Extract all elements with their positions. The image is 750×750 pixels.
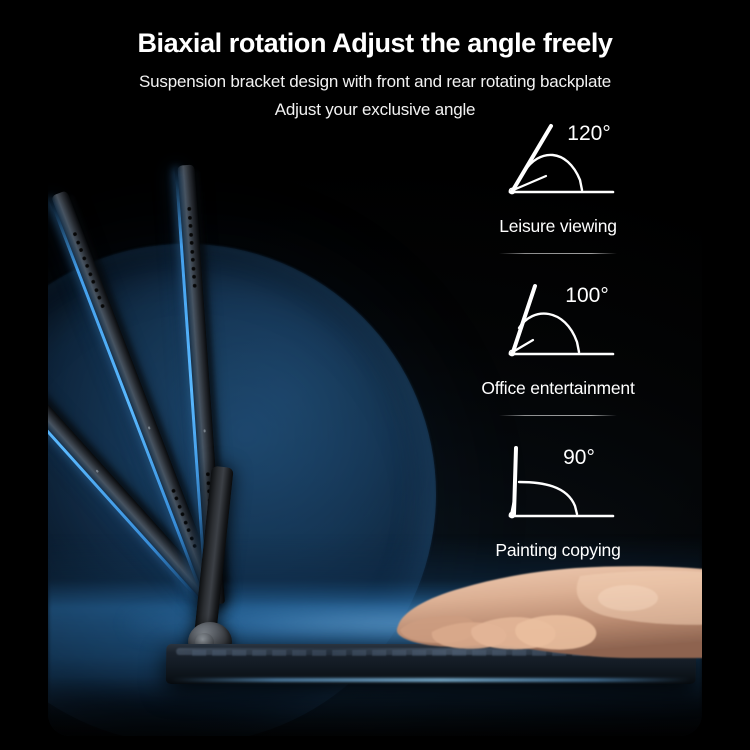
typing-hand [384,554,702,674]
keyboard-front-glow [172,678,690,682]
tablet-angle-120-icon: 120° [452,110,664,202]
angle-preset-120[interactable]: 120° Leisure viewing [452,110,664,254]
angle-divider [499,415,617,416]
angle-value-100: 100° [565,284,608,307]
angle-label-painting: Painting copying [452,540,664,561]
promo-image-root: Biaxial rotation Adjust the angle freely… [0,0,750,750]
angle-label-office: Office entertainment [452,378,664,399]
tablet-mic-dot [203,429,206,432]
angle-value-90: 90° [563,446,595,469]
tablet-angle-100-icon: 100° [452,272,664,364]
subtitle-line-1: Suspension bracket design with front and… [48,72,702,92]
angle-preset-100[interactable]: 100° Office entertainment [452,272,664,416]
angle-divider [499,253,617,254]
content-panel: Biaxial rotation Adjust the angle freely… [48,14,702,736]
tablet-angle-90-icon: 90° [452,434,664,526]
angle-value-120: 120° [567,122,610,145]
page-title: Biaxial rotation Adjust the angle freely [48,28,702,59]
angle-preset-90[interactable]: 90° Painting copying [452,434,664,561]
angle-preset-list: 120° Leisure viewing [452,110,664,561]
angle-label-leisure: Leisure viewing [452,216,664,237]
